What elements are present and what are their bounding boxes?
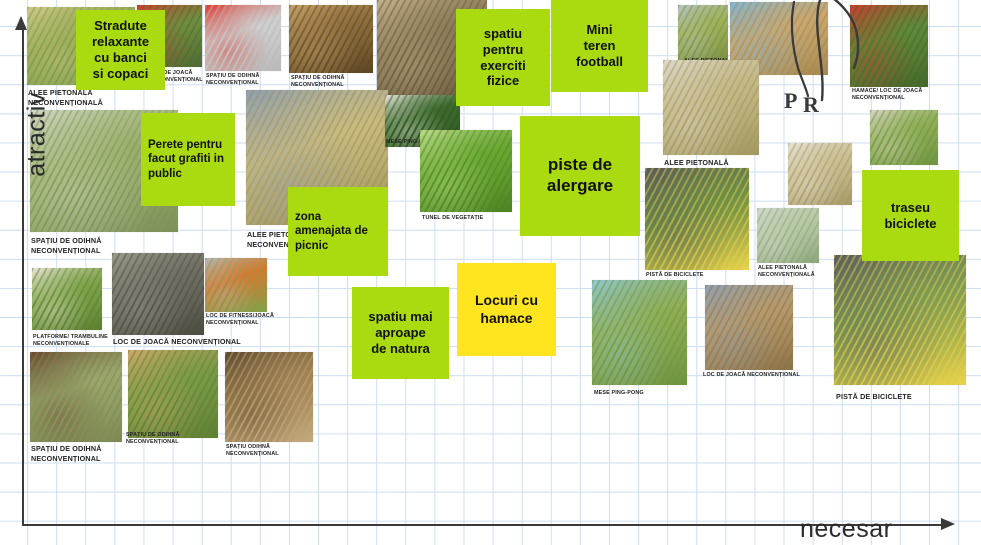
photo-texture [645,168,749,270]
photo-caption: PLATFORME/ TRAMBULINE NECONVENȚIONALE [33,334,108,348]
photo-texture [30,352,122,442]
photo-loc-de-joaca-neconv-net [112,253,204,335]
photo-image [289,5,373,73]
photo-texture [757,208,819,263]
doodle-letter-p: P [784,88,797,114]
photo-loc-de-joaca-neconv-wood [705,285,793,370]
photo-image [420,130,512,212]
photo-texture [834,255,966,385]
photo-image [592,280,687,385]
photo-image [128,350,218,438]
photo-texture [205,258,267,312]
x-axis-label: necesar [800,515,892,544]
sticky-note-perete[interactable]: Perete pentru facut grafiti in public [141,113,235,206]
sticky-note-piste[interactable]: piste de alergare [520,116,640,236]
photo-spatiu-odihna-neconv-pavilion [225,352,313,442]
photo-image [225,352,313,442]
photo-image [834,255,966,385]
photo-image [32,268,102,330]
photo-texture [705,285,793,370]
photo-image [663,60,759,155]
photo-caption: LOC DE JOACĂ NECONVENȚIONAL [113,337,241,347]
photo-mese-ping-pong [592,280,687,385]
photo-spatiu-de-odihna-neconv-bench [128,350,218,438]
photo-alee-pietonala-stepping [663,60,759,155]
photo-image [205,258,267,312]
photo-spatiu-odihna-neconv-red [205,5,281,71]
photo-texture [205,5,281,71]
photo-image [205,5,281,71]
photo-caption: SPAȚIU DE ODIHNĂ NECONVENȚIONAL [291,75,345,89]
photo-caption: SPAȚIU ODIHNĂ NECONVENȚIONAL [226,444,279,458]
photo-caption: SPAȚIU DE ODIHNĂ NECONVENȚIONAL [206,73,260,87]
photo-spatiu-de-odihna-neconv-corten [30,352,122,442]
doodle-letter-r: R [803,92,819,118]
photo-texture [289,5,373,73]
y-axis-label: atractiv [23,80,52,190]
photo-caption: LOC DE JOACĂ NECONVENȚIONAL [703,372,800,379]
photo-loc-de-fitness-joaca [205,258,267,312]
photo-texture [225,352,313,442]
photo-tunel-de-vegetatie [420,130,512,212]
photo-caption: MESE PING-PONG [594,390,644,397]
x-axis-arrow-icon [941,518,955,530]
photo-caption: PISTĂ DE BICICLETE [836,392,912,402]
photo-texture [663,60,759,155]
photo-image [30,352,122,442]
photo-pista-de-biciclete-right [834,255,966,385]
photo-image [645,168,749,270]
photo-texture [678,5,728,60]
photo-texture [788,143,852,205]
sticky-note-football[interactable]: Mini teren football [551,0,648,92]
photo-caption: SPAȚIU DE ODIHNĂ NECONVENȚIONAL [31,444,102,463]
photo-texture [112,253,204,335]
photo-platforme-trambuline [32,268,102,330]
photo-caption: PISTĂ DE BICICLETE [646,272,704,279]
sticky-note-exerciti[interactable]: spatiu pentru exerciti fizice [456,9,550,106]
sticky-note-natura[interactable]: spatiu mai aproape de natura [352,287,449,379]
photo-texture [592,280,687,385]
y-axis-arrow-icon [15,16,27,30]
photo-texture [32,268,102,330]
photo-caption: ALEE PIETONALĂ NECONVENȚIONALĂ [758,265,815,279]
doodle-curve-icon [760,0,890,104]
photo-alee-pietonala-neconv-hedge [757,208,819,263]
photo-spatiu-odihna-neconv-wood [289,5,373,73]
sticky-note-hamace[interactable]: Locuri cu hamace [457,263,556,356]
photo-texture [420,130,512,212]
photo-caption: SPAȚIU DE ODIHNĂ NECONVENȚIONAL [126,432,180,446]
photo-caption: SPAȚIU DE ODIHNĂ NECONVENȚIONAL [31,236,102,255]
sticky-note-traseu[interactable]: traseu biciclete [862,170,959,261]
photo-image [870,110,938,165]
photo-image [705,285,793,370]
sticky-note-stradute[interactable]: Stradute relaxante cu banci si copaci [76,10,165,90]
photo-alee-pietonala-grass-stones [870,110,938,165]
sticky-note-zona[interactable]: zona amenajata de picnic [288,187,388,276]
photo-alee-pietonala-curve [788,143,852,205]
photo-pista-de-biciclete-left [645,168,749,270]
photo-image [757,208,819,263]
photo-image [678,5,728,60]
photo-alee-pietonala-city [678,5,728,60]
photo-texture [870,110,938,165]
photo-image [112,253,204,335]
photo-image [788,143,852,205]
slide-canvas[interactable]: ALEE PIETONALĂ NECONVENȚIONALĂLOC DE JOA… [0,0,981,545]
photo-texture [128,350,218,438]
photo-caption: LOC DE FITNESS/JOACĂ NECONVENȚIONAL [206,313,274,327]
photo-caption: ALEE PIETONALĂ [664,158,729,168]
photo-caption: TUNEL DE VEGETAȚIE [422,215,483,222]
